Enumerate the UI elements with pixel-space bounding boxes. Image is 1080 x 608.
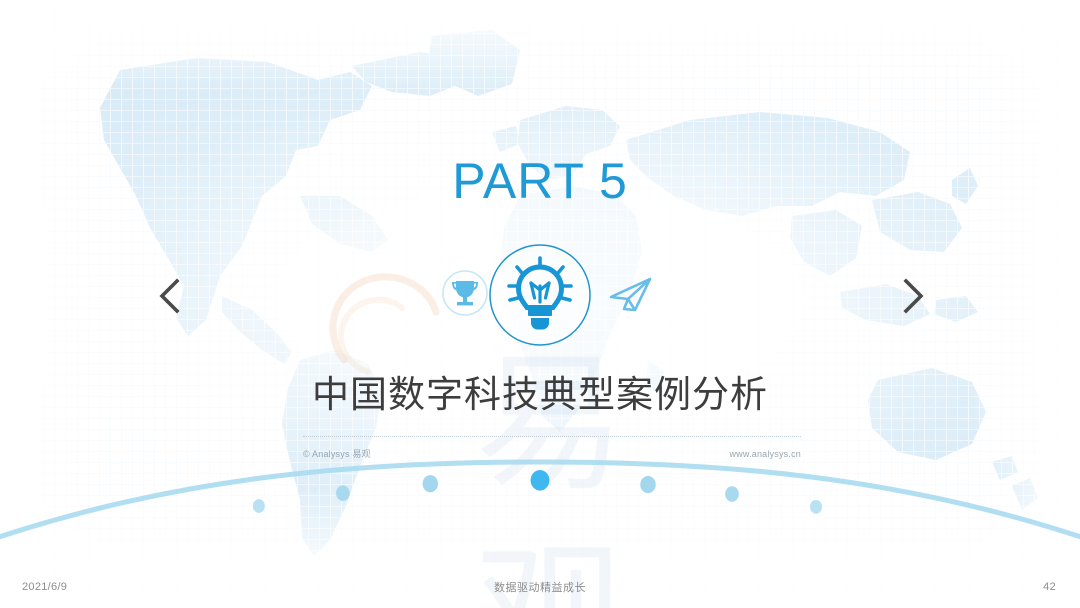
slide-title: 中国数字科技典型案例分析 xyxy=(0,370,1080,420)
progress-dot xyxy=(423,475,438,492)
website-url[interactable]: www.analysys.cn xyxy=(729,448,801,460)
page-footer: 2021/6/9 数据驱动精益成长 42 xyxy=(0,566,1080,608)
progress-dot xyxy=(253,499,265,513)
divider-dotted-rule xyxy=(303,436,801,437)
part-label: PART 5 xyxy=(0,152,1080,210)
trophy-icon xyxy=(440,268,490,318)
brand-watermark: 易观 xyxy=(430,330,660,520)
lightbulb-idea-icon xyxy=(487,242,593,348)
copyright-text: © Analysys 易观 xyxy=(303,448,371,460)
progress-dot xyxy=(810,500,822,514)
presentation-slide: 易观 PART 5 xyxy=(0,0,1080,608)
progress-dot xyxy=(640,476,655,493)
progress-dot xyxy=(725,486,739,501)
map-fade-top xyxy=(0,0,1080,90)
chevron-left-icon[interactable] xyxy=(145,270,195,322)
inner-footer: © Analysys 易观 www.analysys.cn xyxy=(303,436,801,460)
chevron-right-icon[interactable] xyxy=(888,270,938,322)
progress-dot xyxy=(336,485,350,500)
footer-center-text: 数据驱动精益成长 xyxy=(0,579,1080,595)
paper-plane-icon xyxy=(608,274,654,316)
progress-dot-active xyxy=(531,470,550,491)
credit-row: © Analysys 易观 www.analysys.cn xyxy=(303,448,801,460)
page-number: 42 xyxy=(1043,581,1056,593)
